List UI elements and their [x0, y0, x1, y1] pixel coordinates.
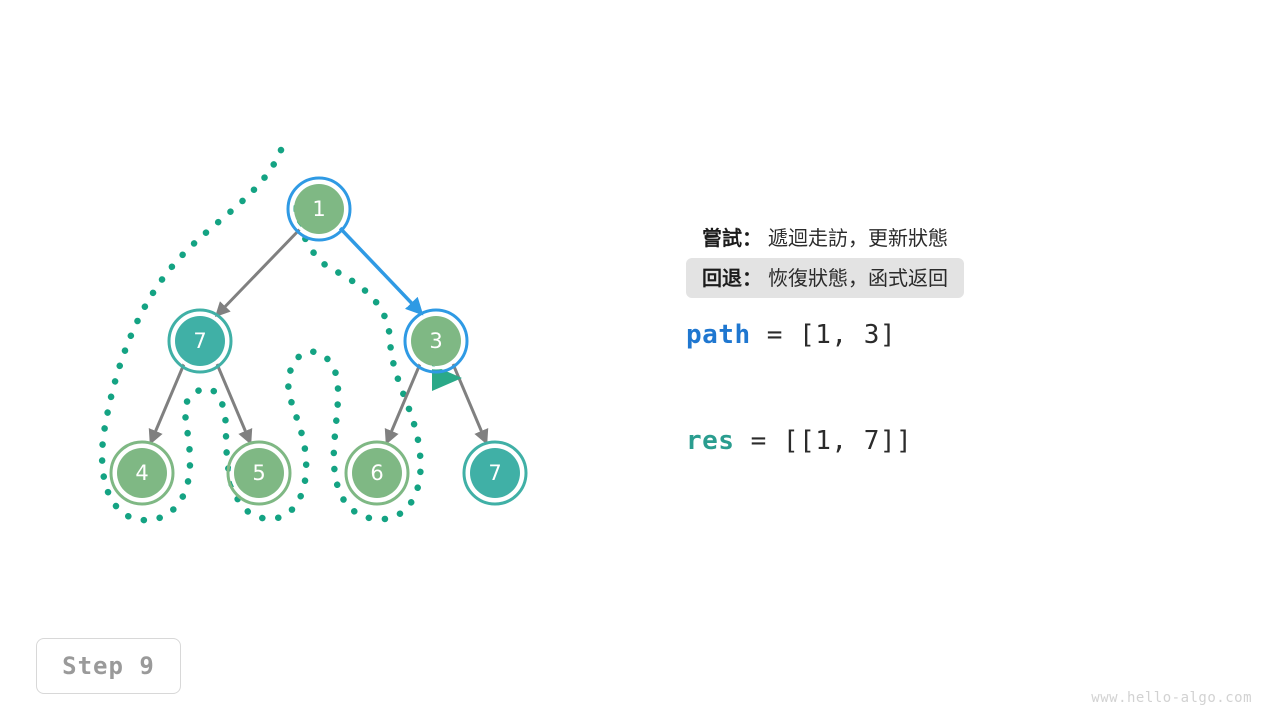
tree-node-7-left[interactable]: 7 — [169, 310, 231, 372]
tree-node-label: 4 — [135, 461, 148, 485]
legend-row-try: 嘗試： 遞迴走訪，更新狀態 — [686, 218, 964, 258]
tree-node-7-right[interactable]: 7 — [464, 442, 526, 504]
step-badge: Step 9 — [36, 638, 181, 694]
tree-diagram: 1 7 3 4 5 6 7 — [0, 0, 660, 620]
tree-node-3[interactable]: 3 — [405, 310, 467, 372]
variable-name-path: path — [686, 320, 751, 350]
tree-node-label: 5 — [252, 461, 265, 485]
tree-node-label: 7 — [193, 329, 206, 353]
edge-3-to-6 — [387, 364, 420, 442]
legend-label-backtrack: 回退： — [702, 258, 762, 298]
legend-text-backtrack: 恢復狀態，函式返回 — [768, 258, 948, 298]
info-panel: 嘗試： 遞迴走訪，更新狀態 回退： 恢復狀態，函式返回 path = [1, 3… — [686, 218, 1246, 456]
variable-name-res: res — [686, 426, 734, 456]
tree-node-1[interactable]: 1 — [288, 178, 350, 240]
tree-node-label: 7 — [488, 461, 501, 485]
legend-label-try: 嘗試： — [702, 218, 762, 258]
code-line-res: res = [[1, 7]] — [686, 426, 1246, 456]
tree-node-5[interactable]: 5 — [228, 442, 290, 504]
tree-node-label: 6 — [370, 461, 383, 485]
edge-1-to-3 — [340, 228, 421, 313]
variable-value-path: = [1, 3] — [751, 320, 896, 350]
edge-1-to-7L — [217, 228, 301, 315]
watermark-text: www.hello-algo.com — [1091, 690, 1252, 706]
tree-node-6[interactable]: 6 — [346, 442, 408, 504]
step-label: Step 9 — [62, 652, 155, 680]
tree-node-4[interactable]: 4 — [111, 442, 173, 504]
variable-value-res: = [[1, 7]] — [734, 426, 912, 456]
edge-7L-to-4 — [151, 364, 184, 442]
watermark: www.hello-algo.com — [1091, 690, 1252, 706]
code-line-path: path = [1, 3] — [686, 320, 1246, 350]
legend-text-try: 遞迴走訪，更新狀態 — [768, 218, 948, 258]
legend-row-backtrack: 回退： 恢復狀態，函式返回 — [686, 258, 964, 298]
tree-node-label: 1 — [312, 197, 325, 221]
edge-3-to-7R — [453, 364, 486, 442]
tree-node-label: 3 — [429, 329, 442, 353]
